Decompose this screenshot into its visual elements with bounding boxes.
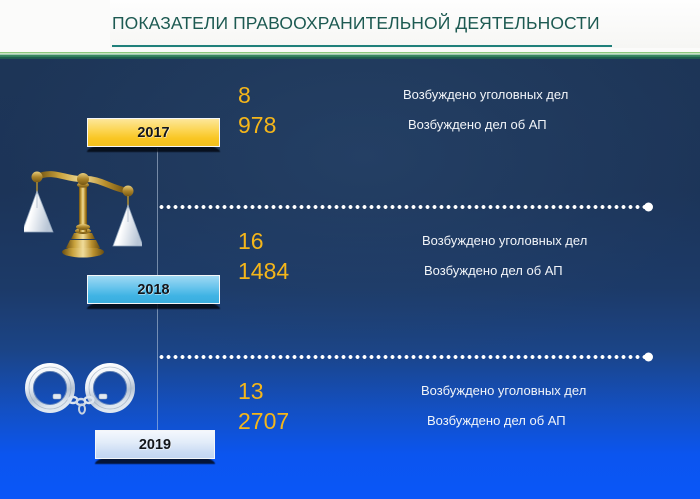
connector-line-2018 bbox=[158, 355, 648, 359]
stat-value-2019-admin: 2707 bbox=[238, 406, 289, 436]
stat-value-2017-admin: 978 bbox=[238, 110, 276, 140]
stat-row-2019-admin: 2707 Возбуждено дел об АП bbox=[238, 406, 668, 436]
stat-label-2017-criminal: Возбуждено уголовных дел bbox=[403, 80, 568, 110]
connector-end-dot-2018 bbox=[644, 353, 653, 362]
slide-header: ПОКАЗАТЕЛИ ПРАВООХРАНИТЕЛЬНОЙ ДЕЯТЕЛЬНОС… bbox=[0, 0, 700, 52]
stat-label-2018-criminal: Возбуждено уголовных дел bbox=[422, 226, 587, 256]
connector-end-dot-2017 bbox=[644, 203, 653, 212]
stat-label-2019-admin: Возбуждено дел об АП bbox=[427, 406, 566, 436]
year-label-2019: 2019 bbox=[96, 437, 214, 453]
handcuffs-icon bbox=[22, 362, 140, 424]
stat-group-2018: 16 Возбуждено уголовных дел 1484 Возбужд… bbox=[238, 226, 668, 286]
stat-group-2019: 13 Возбуждено уголовных дел 2707 Возбужд… bbox=[238, 376, 668, 436]
year-chip-2019[interactable]: 2019 bbox=[95, 430, 215, 459]
stat-label-2018-admin: Возбуждено дел об АП bbox=[424, 256, 563, 286]
year-chip-2018[interactable]: 2018 bbox=[87, 275, 220, 304]
stat-row-2018-admin: 1484 Возбуждено дел об АП bbox=[238, 256, 668, 286]
slide-root: ПОКАЗАТЕЛИ ПРАВООХРАНИТЕЛЬНОЙ ДЕЯТЕЛЬНОС… bbox=[0, 0, 700, 499]
scales-of-justice-icon bbox=[24, 158, 142, 262]
stat-row-2017-admin: 978 Возбуждено дел об АП bbox=[238, 110, 668, 140]
year-chip-2017[interactable]: 2017 bbox=[87, 118, 220, 147]
connector-line-2017 bbox=[158, 205, 648, 209]
page-title: ПОКАЗАТЕЛИ ПРАВООХРАНИТЕЛЬНОЙ ДЕЯТЕЛЬНОС… bbox=[112, 13, 632, 34]
stat-value-2018-admin: 1484 bbox=[238, 256, 289, 286]
stat-label-2019-criminal: Возбуждено уголовных дел bbox=[421, 376, 586, 406]
header-accent-strip bbox=[0, 52, 700, 59]
stat-row-2019-criminal: 13 Возбуждено уголовных дел bbox=[238, 376, 668, 406]
stat-value-2017-criminal: 8 bbox=[238, 80, 251, 110]
stat-group-2017: 8 Возбуждено уголовных дел 978 Возбужден… bbox=[238, 80, 668, 140]
year-label-2017: 2017 bbox=[88, 125, 219, 141]
title-underline bbox=[112, 45, 612, 47]
year-label-2018: 2018 bbox=[88, 282, 219, 298]
stat-row-2017-criminal: 8 Возбуждено уголовных дел bbox=[238, 80, 668, 110]
stat-label-2017-admin: Возбуждено дел об АП bbox=[408, 110, 547, 140]
stat-row-2018-criminal: 16 Возбуждено уголовных дел bbox=[238, 226, 668, 256]
stat-value-2018-criminal: 16 bbox=[238, 226, 264, 256]
stat-value-2019-criminal: 13 bbox=[238, 376, 264, 406]
